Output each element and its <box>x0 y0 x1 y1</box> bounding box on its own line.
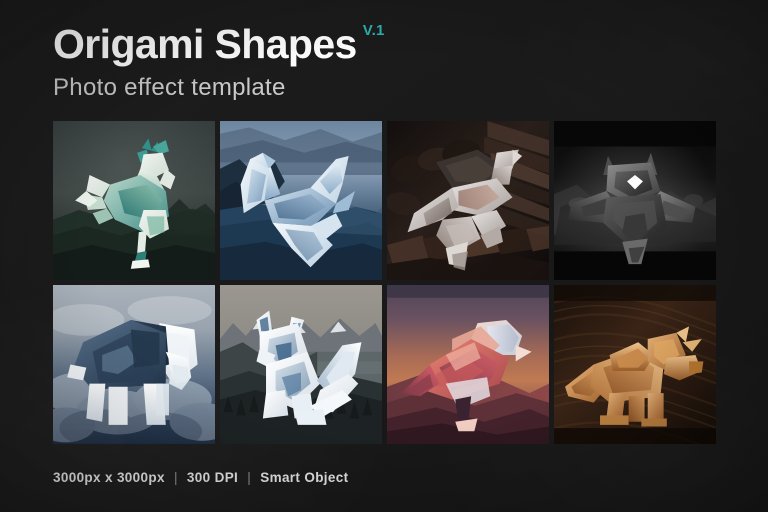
gallery-tile-elephant[interactable] <box>53 285 215 444</box>
gallery-tile-owl[interactable] <box>554 121 716 280</box>
version-badge: V.1 <box>363 22 385 39</box>
gallery-tile-bird[interactable] <box>387 285 549 444</box>
gallery-tile-dinosaur[interactable] <box>554 285 716 444</box>
caption-separator-1: | <box>169 470 183 485</box>
origami-owl-figure <box>554 121 716 280</box>
page-subtitle: Photo effect template <box>53 75 385 101</box>
title-row: Origami Shapes V.1 <box>53 24 385 65</box>
caption-dpi: 300 DPI <box>187 470 238 485</box>
thumbnail-grid <box>53 121 716 444</box>
origami-elephant-figure <box>53 285 215 444</box>
gallery-tile-rooster[interactable] <box>53 121 215 280</box>
caption-separator-2: | <box>242 470 256 485</box>
specs-caption: 3000px x 3000px | 300 DPI | Smart Object <box>53 470 348 485</box>
origami-bird-figure <box>387 285 549 444</box>
origami-rooster-figure <box>53 121 215 280</box>
page-title: Origami Shapes <box>53 24 357 65</box>
gallery-tile-fox[interactable] <box>220 285 382 444</box>
gallery-tile-crane[interactable] <box>220 121 382 280</box>
gallery-tile-eagle[interactable] <box>387 121 549 280</box>
caption-format: Smart Object <box>260 470 348 485</box>
poster-header: Origami Shapes V.1 Photo effect template <box>53 24 385 101</box>
poster-canvas: Origami Shapes V.1 Photo effect template <box>0 0 768 512</box>
origami-dinosaur-figure <box>554 285 716 444</box>
caption-dimensions: 3000px x 3000px <box>53 470 165 485</box>
origami-eagle-figure <box>387 121 549 280</box>
origami-crane-figure <box>220 121 382 280</box>
origami-fox-figure <box>220 285 382 444</box>
